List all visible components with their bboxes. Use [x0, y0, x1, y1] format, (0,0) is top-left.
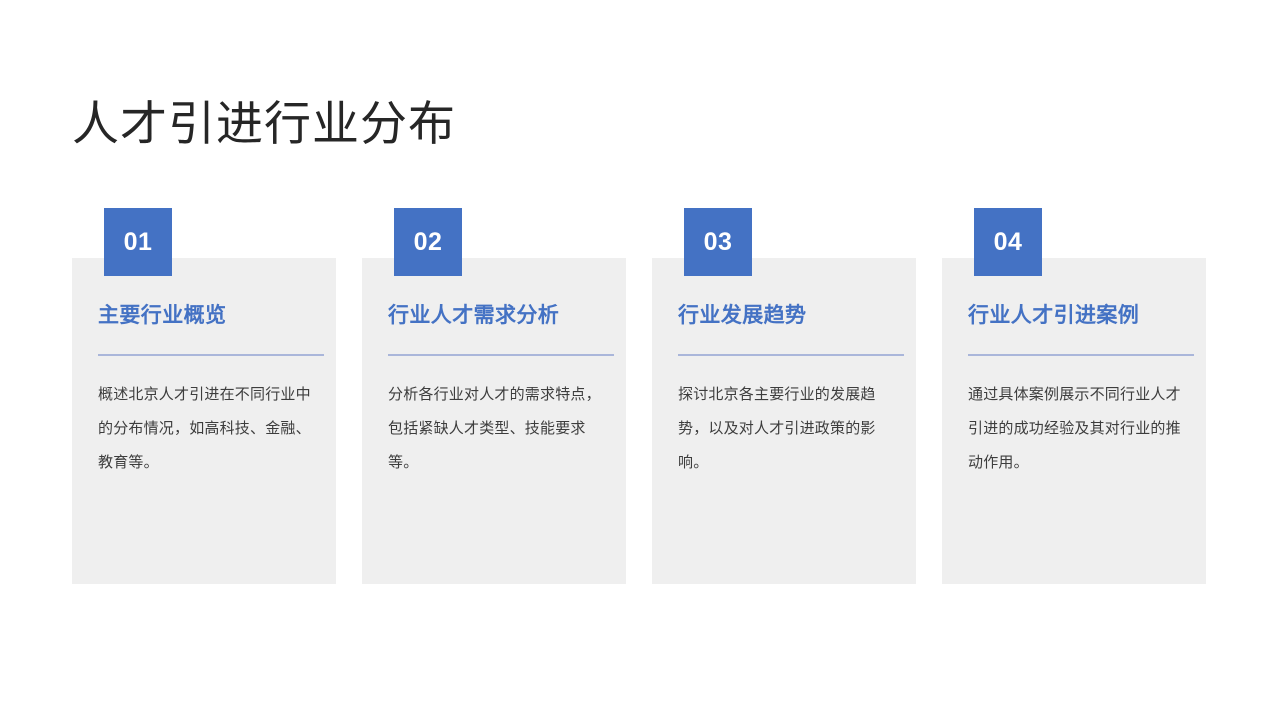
slide-canvas: 人才引进行业分布 01 主要行业概览 概述北京人才引进在不同行业中的分布情况，如… — [0, 0, 1280, 720]
card-content: 行业发展趋势 探讨北京各主要行业的发展趋势，以及对人才引进政策的影响。 — [652, 258, 916, 584]
card-content: 行业人才引进案例 通过具体案例展示不同行业人才引进的成功经验及其对行业的推动作用… — [942, 258, 1206, 584]
card-description: 分析各行业对人才的需求特点，包括紧缺人才类型、技能要求等。 — [388, 378, 606, 480]
card-content: 主要行业概览 概述北京人才引进在不同行业中的分布情况，如高科技、金融、教育等。 — [72, 258, 336, 584]
card-divider — [388, 354, 614, 356]
card-heading: 行业人才需求分析 — [388, 302, 604, 330]
card-number-badge: 01 — [104, 208, 172, 276]
card-heading: 行业人才引进案例 — [968, 302, 1184, 330]
card-number-badge: 03 — [684, 208, 752, 276]
card-content: 行业人才需求分析 分析各行业对人才的需求特点，包括紧缺人才类型、技能要求等。 — [362, 258, 626, 584]
card-list: 01 主要行业概览 概述北京人才引进在不同行业中的分布情况，如高科技、金融、教育… — [72, 208, 1208, 584]
list-item[interactable]: 03 行业发展趋势 探讨北京各主要行业的发展趋势，以及对人才引进政策的影响。 — [652, 208, 916, 584]
card-number-badge: 04 — [974, 208, 1042, 276]
list-item[interactable]: 02 行业人才需求分析 分析各行业对人才的需求特点，包括紧缺人才类型、技能要求等… — [362, 208, 626, 584]
card-divider — [968, 354, 1194, 356]
card-number-badge: 02 — [394, 208, 462, 276]
card-heading: 行业发展趋势 — [678, 302, 894, 330]
list-item[interactable]: 04 行业人才引进案例 通过具体案例展示不同行业人才引进的成功经验及其对行业的推… — [942, 208, 1206, 584]
page-title: 人才引进行业分布 — [72, 94, 456, 154]
card-description: 通过具体案例展示不同行业人才引进的成功经验及其对行业的推动作用。 — [968, 378, 1186, 480]
list-item[interactable]: 01 主要行业概览 概述北京人才引进在不同行业中的分布情况，如高科技、金融、教育… — [72, 208, 336, 584]
card-description: 概述北京人才引进在不同行业中的分布情况，如高科技、金融、教育等。 — [98, 378, 316, 480]
card-description: 探讨北京各主要行业的发展趋势，以及对人才引进政策的影响。 — [678, 378, 896, 480]
card-divider — [98, 354, 324, 356]
card-divider — [678, 354, 904, 356]
card-heading: 主要行业概览 — [98, 302, 314, 330]
